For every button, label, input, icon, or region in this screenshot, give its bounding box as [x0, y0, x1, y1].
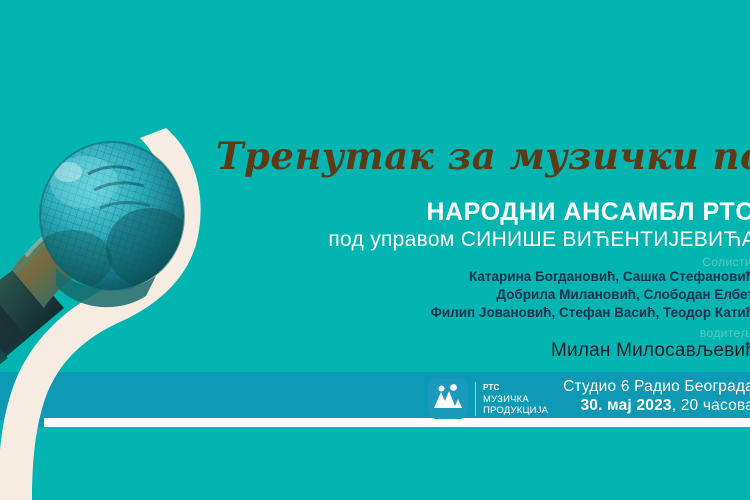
soloists-label: Солисти — [702, 255, 750, 269]
venue-time: , 20 часова — [672, 397, 750, 414]
soloists-line: Филип Јовановић, Стефан Васић, Теодор Ка… — [430, 304, 750, 322]
host-label: водитељ — [700, 326, 750, 340]
rts-logo-line2: МУЗИЧКА — [483, 394, 548, 405]
rts-logo-text: РТС МУЗИЧКА ПРОДУКЦИЈА — [475, 382, 548, 416]
venue-location: Студио 6 Радио Београда — [563, 377, 750, 396]
microphone-illustration — [0, 120, 240, 500]
venue-date: 30. мај 2023 — [580, 397, 671, 414]
poster-canvas: Тренутак за музички почетак НАРОДНИ АНСА… — [0, 0, 750, 500]
rts-logo-mark-icon — [428, 379, 468, 419]
rts-wordmark: РТС — [483, 382, 548, 393]
host-name: Милан Милосављевић — [551, 340, 750, 362]
ensemble-name: НАРОДНИ АНСАМБЛ РТС — [426, 198, 750, 227]
venue-block: Студио 6 Радио Београда 30. мај 2023, 20… — [563, 377, 750, 415]
venue-datetime: 30. мај 2023, 20 часова — [563, 396, 750, 415]
rts-logo: РТС МУЗИЧКА ПРОДУКЦИЈА — [428, 379, 548, 419]
conductor-line: под управом СИНИШЕ ВИЋЕНТИЈЕВИЋА — [328, 228, 750, 252]
soloists-list: Катарина Богдановић, Сашка Стефановић До… — [430, 268, 750, 322]
poster-script-title: Тренутак за музички почетак — [216, 134, 750, 178]
soloists-line: Добрила Милановић, Слободан Елбет — [430, 286, 750, 304]
soloists-line: Катарина Богдановић, Сашка Стефановић — [430, 268, 750, 286]
rts-logo-line3: ПРОДУКЦИЈА — [483, 405, 548, 416]
